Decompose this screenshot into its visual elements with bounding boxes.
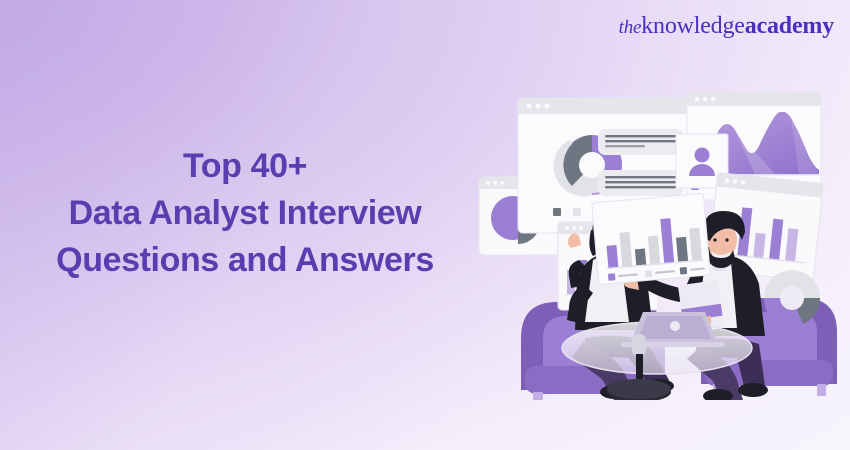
- window-dot-icon: [703, 97, 708, 102]
- window-dot-icon: [493, 181, 497, 185]
- window-dot-icon: [695, 97, 700, 102]
- data-analyst-interview-illustration: [465, 70, 850, 400]
- eye: [713, 238, 716, 241]
- text-card: [598, 170, 683, 196]
- window-dot-icon: [500, 181, 504, 185]
- window-dot-icon: [535, 103, 540, 108]
- user-icon: [695, 148, 710, 163]
- window-dot-icon: [544, 103, 549, 108]
- page-title: Top 40+ Data Analyst Interview Questions…: [30, 143, 460, 284]
- card-bar-chart-held: [592, 193, 711, 284]
- window-dot-icon: [565, 226, 569, 230]
- laptop-logo: [670, 321, 680, 331]
- floating-donut-chart: [764, 270, 820, 326]
- window-dot-icon: [579, 226, 583, 230]
- shoe: [738, 383, 768, 397]
- window-dot-icon: [711, 97, 716, 102]
- window-dot-icon: [486, 181, 490, 185]
- banner-root: theknowledgeacademy Top 40+ Data Analyst…: [0, 0, 850, 450]
- window-dot-icon: [526, 103, 531, 108]
- title-line-1: Top 40+: [30, 143, 460, 190]
- title-line-2: Data Analyst Interview: [30, 190, 460, 237]
- logo-academy: academy: [745, 13, 834, 39]
- brand-logo[interactable]: theknowledgeacademy: [619, 14, 834, 38]
- logo-knowledge: knowledge: [641, 13, 745, 39]
- logo-the: the: [619, 17, 642, 38]
- eye: [725, 238, 728, 241]
- text-card: [598, 129, 683, 155]
- window-dot-icon: [572, 226, 576, 230]
- title-line-3: Questions and Answers: [30, 237, 460, 284]
